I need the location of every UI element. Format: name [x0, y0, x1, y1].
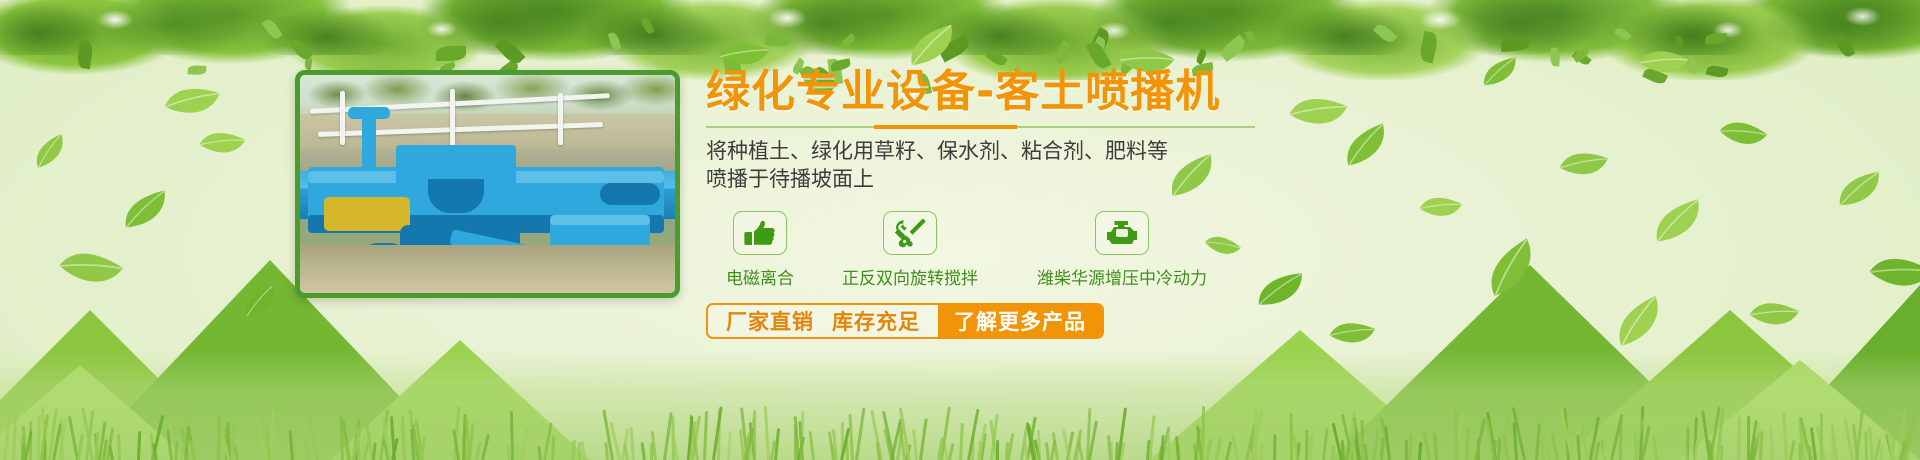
product-photo-frame [295, 70, 680, 298]
feature-label-0: 电磁离合 [706, 264, 814, 289]
cta-text-right: 库存充足 [832, 305, 938, 337]
subtitle-line-1: 将种植土、绿化用草籽、保水剂、粘合剂、肥料等 [706, 137, 1266, 165]
feature-item-2: 潍柴华源增压中冷动力 [1006, 211, 1238, 289]
thumbs-up-icon [733, 211, 787, 255]
feature-label-1: 正反双向旋转搅拌 [814, 264, 1006, 289]
cta-row[interactable]: 厂家直销 库存充足 了解更多产品 [706, 303, 1104, 339]
feature-item-0: 电磁离合 [706, 211, 814, 289]
page-title: 绿化专业设备-客土喷播机 [706, 68, 1266, 116]
feature-item-1: 正反双向旋转搅拌 [814, 211, 1006, 289]
subtitle: 将种植土、绿化用草籽、保水剂、粘合剂、肥料等 喷播于待播坡面上 [706, 137, 1266, 194]
banner-content: 绿化专业设备-客土喷播机 将种植土、绿化用草籽、保水剂、粘合剂、肥料等 喷播于待… [706, 68, 1266, 339]
feature-label-2: 潍柴华源增压中冷动力 [1006, 264, 1238, 289]
cta-text-left: 厂家直销 [708, 305, 832, 337]
product-photo [300, 75, 675, 293]
engine-icon [1095, 211, 1149, 255]
feature-list: 电磁离合 正反双向旋转搅拌 [706, 211, 1266, 289]
wrench-screwdriver-icon [883, 211, 937, 255]
title-divider [706, 125, 1255, 129]
promo-banner: 绿化专业设备-客土喷播机 将种植土、绿化用草籽、保水剂、粘合剂、肥料等 喷播于待… [0, 0, 1920, 460]
learn-more-button[interactable]: 了解更多产品 [938, 305, 1102, 337]
subtitle-line-2: 喷播于待播坡面上 [706, 165, 1266, 193]
